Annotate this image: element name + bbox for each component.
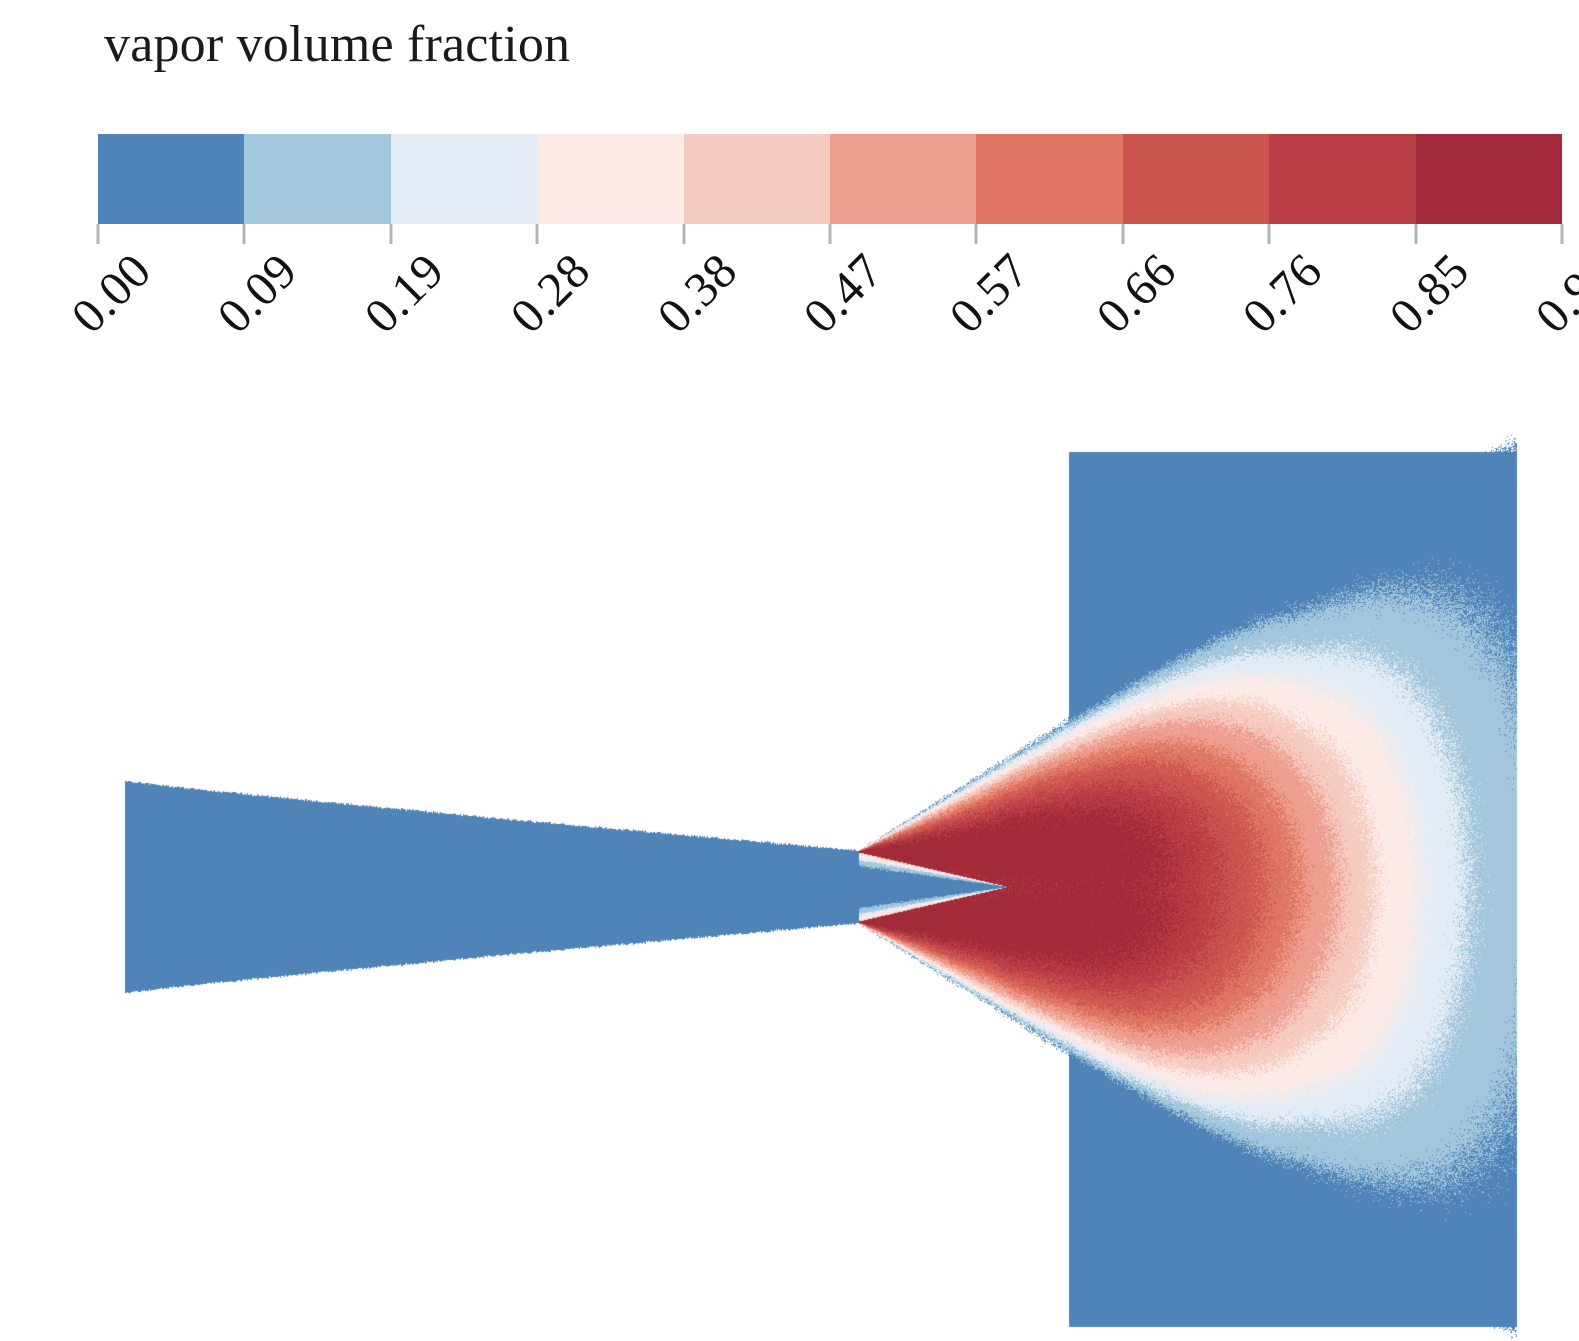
contour-plot xyxy=(0,400,1579,1341)
colorbar-segment-4 xyxy=(684,134,830,224)
colorbar-segment-6 xyxy=(976,134,1122,224)
colorbar-tick-label-3: 0.28 xyxy=(501,244,600,343)
colorbar-strip xyxy=(98,134,1562,224)
colorbar-tick-4 xyxy=(682,224,685,244)
colorbar-title: vapor volume fraction xyxy=(104,14,570,76)
colorbar-tick-0 xyxy=(97,224,100,244)
colorbar-tick-label-4: 0.38 xyxy=(648,244,747,343)
colorbar-tick-1 xyxy=(243,224,246,244)
colorbar-segment-7 xyxy=(1123,134,1269,224)
colorbar-tick-labels: 0.000.090.190.280.380.470.570.660.760.85… xyxy=(98,244,1562,394)
colorbar-segment-3 xyxy=(537,134,683,224)
colorbar-tick-label-1: 0.09 xyxy=(208,244,307,343)
colorbar-segment-8 xyxy=(1269,134,1415,224)
colorbar-tick-label-0: 0.00 xyxy=(62,244,161,343)
colorbar-tick-3 xyxy=(536,224,539,244)
colorbar-segment-1 xyxy=(244,134,390,224)
colorbar-segment-0 xyxy=(98,134,244,224)
colorbar-ticks xyxy=(98,224,1562,244)
colorbar-tick-9 xyxy=(1414,224,1417,244)
colorbar-segment-9 xyxy=(1416,134,1562,224)
colorbar-tick-5 xyxy=(829,224,832,244)
colorbar-tick-label-7: 0.66 xyxy=(1087,244,1186,343)
colorbar-segment-2 xyxy=(391,134,537,224)
colorbar-tick-6 xyxy=(975,224,978,244)
colorbar-segment-5 xyxy=(830,134,976,224)
colorbar-tick-label-2: 0.19 xyxy=(355,244,454,343)
colorbar-tick-label-5: 0.47 xyxy=(794,244,893,343)
colorbar-tick-10 xyxy=(1561,224,1564,244)
colorbar-tick-8 xyxy=(1268,224,1271,244)
colorbar-tick-2 xyxy=(389,224,392,244)
colorbar-tick-label-8: 0.76 xyxy=(1233,244,1332,343)
colorbar xyxy=(98,134,1562,224)
colorbar-tick-label-10: 0.95 xyxy=(1526,244,1579,343)
colorbar-tick-7 xyxy=(1121,224,1124,244)
colorbar-tick-label-6: 0.57 xyxy=(940,244,1039,343)
contour-figure: vapor volume fraction 0.000.090.190.280.… xyxy=(0,0,1579,1341)
colorbar-tick-label-9: 0.85 xyxy=(1380,244,1479,343)
